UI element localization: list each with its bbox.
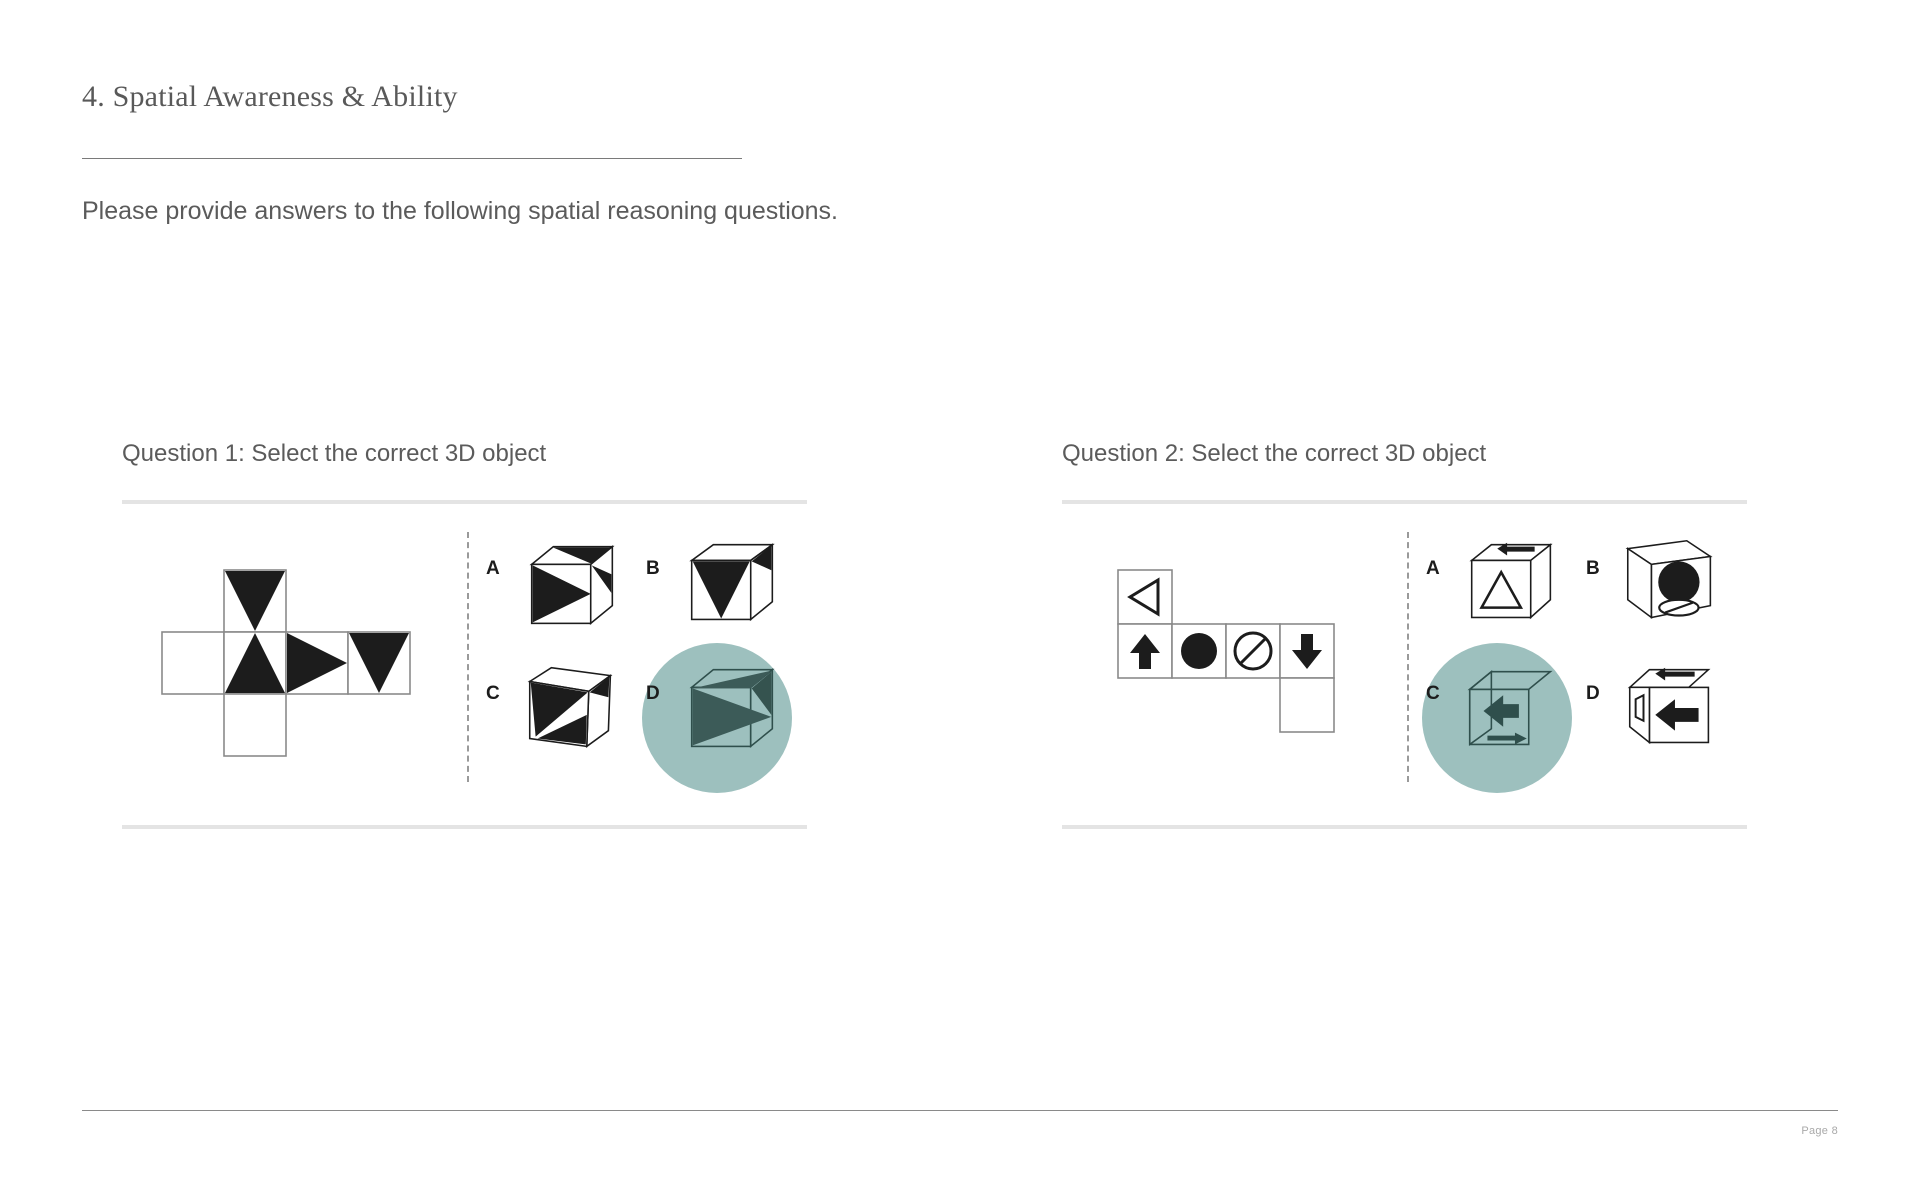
option-letter-d: D <box>646 683 660 705</box>
cube-figure-a <box>1454 530 1572 642</box>
option-letter-d: D <box>1586 683 1600 705</box>
option-c[interactable]: C <box>482 645 642 777</box>
question-card-1: Question 1: Select the correct 3D object <box>122 440 812 840</box>
question-1-rule-top <box>122 500 807 504</box>
question-1-options: A B <box>482 520 812 800</box>
no-entry-circle <box>1235 633 1271 669</box>
question-1-rule-bottom <box>122 825 807 829</box>
question-1-header: Question 1: Select the correct 3D object <box>122 440 546 468</box>
net-diagram-q1 <box>122 520 462 800</box>
option-b[interactable]: B <box>642 520 802 652</box>
option-c[interactable]: C <box>1422 645 1582 777</box>
cube-figure-a <box>514 530 632 642</box>
cube-figure-d <box>1614 655 1732 767</box>
option-letter-a: A <box>486 558 500 580</box>
footer-divider <box>82 1110 1838 1111</box>
option-d[interactable]: D <box>1582 645 1742 777</box>
cube-figure-c <box>514 655 632 767</box>
circle-filled <box>1181 633 1217 669</box>
cube-figure-d <box>674 655 792 767</box>
question-2-header: Question 2: Select the correct 3D object <box>1062 440 1486 468</box>
question-2-options: A B <box>1422 520 1752 800</box>
footer-page-number: Page 8 <box>1801 1125 1838 1137</box>
option-b[interactable]: B <box>1582 520 1742 652</box>
option-letter-b: B <box>646 558 660 580</box>
option-d[interactable]: D <box>642 645 802 777</box>
option-letter-c: C <box>486 683 500 705</box>
question-1-net <box>122 520 462 800</box>
question-card-2: Question 2: Select the correct 3D object <box>1062 440 1752 840</box>
option-letter-a: A <box>1426 558 1440 580</box>
net-diagram-q2 <box>1062 520 1402 800</box>
page-subtitle: Please provide answers to the following … <box>82 197 838 226</box>
question-2-rule-bottom <box>1062 825 1747 829</box>
question-2-divider <box>1407 532 1409 782</box>
question-1-divider <box>467 532 469 782</box>
option-letter-b: B <box>1586 558 1600 580</box>
cube-figure-b <box>1614 530 1732 642</box>
option-a[interactable]: A <box>1422 520 1582 652</box>
title-divider <box>82 158 742 159</box>
question-2-rule-top <box>1062 500 1747 504</box>
cube-figure-b <box>674 530 792 642</box>
option-a[interactable]: A <box>482 520 642 652</box>
cube-figure-c <box>1454 655 1572 767</box>
question-2-net <box>1062 520 1402 800</box>
option-letter-c: C <box>1426 683 1440 705</box>
page-title: 4. Spatial Awareness & Ability <box>82 80 458 114</box>
